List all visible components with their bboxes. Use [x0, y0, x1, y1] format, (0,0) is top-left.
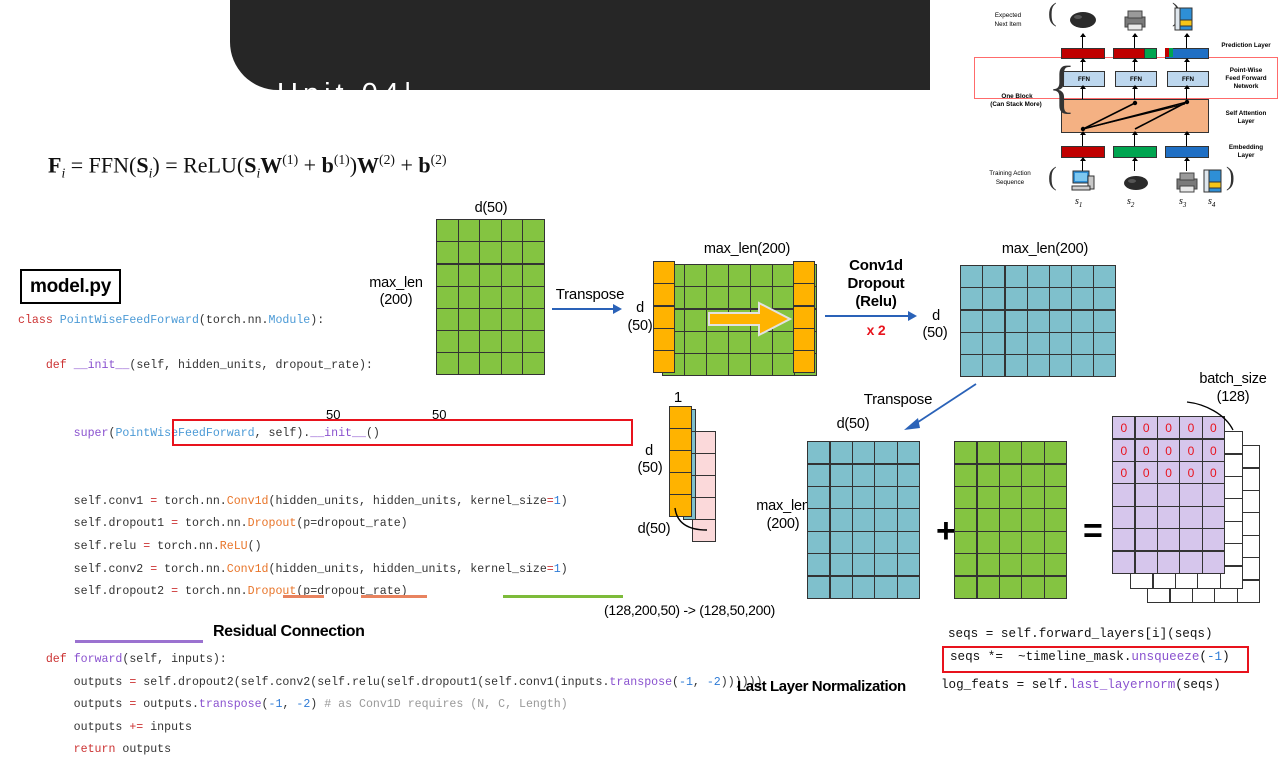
arrow-attn-2: [1134, 88, 1135, 99]
pointwise-label-2: Feed Forward: [1217, 75, 1275, 83]
shape-transform-note: (128,200,50) -> (128,50,200): [604, 602, 775, 618]
modelpy-badge: model.py: [20, 269, 121, 304]
arrowhead-ffn-1: [1080, 58, 1086, 62]
transpose-underline: [503, 595, 623, 598]
self-attention-label-1: Self Attention: [1217, 110, 1275, 118]
arrowhead-pred-1: [1080, 33, 1086, 37]
arrowhead-pred-3: [1184, 33, 1190, 37]
matrix-green-1: [437, 220, 545, 375]
arrowhead-attn-3: [1184, 85, 1190, 89]
computer-icon: [1070, 168, 1096, 194]
matrix1-left-label-1: max_len: [358, 275, 434, 291]
input-bracket-right: ): [1226, 162, 1235, 192]
input-bracket-left: (: [1048, 162, 1057, 192]
matrix3-top-label: max_len(200): [990, 241, 1100, 257]
printer-icon-bottom: [1173, 170, 1201, 194]
annotation-fifty-right: 50: [432, 407, 446, 422]
batch-size-brace: [1185, 400, 1241, 432]
sliding-kernel-arrow: [707, 301, 792, 337]
embedding-layer-label-2: Layer: [1217, 152, 1275, 160]
matrix1-left-label-2: (200): [358, 292, 434, 308]
pointwise-label-3: Network: [1217, 83, 1275, 91]
matrix1-top-label: d(50): [436, 200, 546, 216]
one-block-label-2: (Can Stack More): [980, 101, 1052, 109]
kernel-left-label-2: (50): [630, 460, 670, 476]
arrowhead-pred-2: [1132, 33, 1138, 37]
residual-connection-label: Residual Connection: [213, 623, 365, 641]
bottom-code-line-2: seqs *= ~timeline_mask.unsqueeze(-1): [950, 650, 1230, 664]
sequence-label-s3: s3: [1179, 196, 1186, 209]
last-layer-norm-label: Last Layer Normalization: [737, 678, 906, 695]
conv1-highlight-box: [172, 419, 633, 446]
matrix2-kernel-col-left: [654, 262, 675, 373]
arrowhead-ffn-3: [1184, 58, 1190, 62]
self-attention-label-2: Layer: [1217, 118, 1275, 126]
arrowhead-attn-1: [1080, 85, 1086, 89]
arrowhead-in-2: [1132, 157, 1138, 161]
plus-operator: +: [936, 512, 956, 551]
batch-size-label-1: batch_size: [1188, 371, 1278, 387]
transpose-arrow-1-head: [613, 304, 622, 314]
matrix-green-3: [955, 442, 1067, 599]
arrow-emb-2: [1134, 135, 1135, 146]
one-block-brace: {: [1048, 58, 1076, 116]
books-icon-bottom: [1201, 168, 1225, 195]
conv1d-times2-label: x 2: [843, 322, 909, 338]
equals-operator: =: [1083, 512, 1103, 551]
books-icon-top: [1172, 6, 1196, 33]
sasrec-architecture-figure: Expected Next Item ( ) Prediction Layer …: [972, 2, 1278, 217]
printer-icon-top: [1121, 7, 1149, 32]
page-title: Unit 04|Pointwise Feed Forward Network: [277, 78, 676, 115]
header-subtitle: Pointwise Feed Forward Network: [411, 94, 676, 114]
header-bar: [230, 0, 930, 90]
matrix4-top-label: d(50): [808, 416, 898, 432]
sequence-label-s4: s4: [1208, 196, 1215, 209]
conv1d-label-line3: (Relu): [843, 293, 909, 310]
kernel-left-label-1: d: [636, 443, 662, 459]
arrowhead-in-1: [1080, 157, 1086, 161]
arrowhead-emb-3: [1184, 131, 1190, 135]
bottom-code-line-3: log_feats = self.last_layernorm(seqs): [941, 678, 1221, 692]
conv1d-arrow-head: [908, 311, 917, 321]
one-block-label-1: One Block: [988, 93, 1046, 101]
mouse-icon-top: [1068, 8, 1098, 32]
conv1d-label-line1: Conv1d: [843, 257, 909, 274]
arrowhead-in-3: [1184, 157, 1190, 161]
transpose-label-1: Transpose: [550, 286, 630, 303]
embedding-layer-label-1: Embedding: [1217, 144, 1275, 152]
sequence-label-s2: s2: [1127, 196, 1134, 209]
prediction-bar-3-green: [1169, 48, 1173, 57]
arrow-in-2: [1134, 160, 1135, 171]
header-unit: Unit 04: [277, 78, 404, 110]
kernel-weight-col: [670, 407, 692, 517]
training-seq-label-1: Training Action: [974, 170, 1046, 178]
arrow-emb-3: [1186, 135, 1187, 146]
prediction-bar-2-green: [1144, 48, 1157, 59]
expected-bracket-left: (: [1048, 0, 1057, 28]
mouse-icon-bottom: [1122, 173, 1150, 193]
conv1d-label-line2: Dropout: [843, 275, 909, 292]
matrix-cyan-1: [961, 266, 1116, 377]
pointwise-label-1: Point-Wise: [1217, 67, 1275, 75]
dropout1-underline: [361, 595, 427, 598]
matrix-cyan-2: [808, 442, 920, 599]
matrix2-kernel-col-right: [794, 262, 815, 373]
kernel-brace: [673, 504, 711, 534]
training-seq-label-2: Sequence: [974, 179, 1046, 187]
matrix3-left-label-1: d: [920, 308, 952, 324]
arrow-attn-3: [1186, 88, 1187, 99]
arrowhead-ffn-2: [1132, 58, 1138, 62]
conv1d-arrow-line: [825, 315, 910, 317]
relu-underline: [283, 595, 324, 598]
bottom-code-line-1: seqs = self.forward_layers[i](seqs): [948, 627, 1213, 641]
expected-next-item-label-1: Expected: [978, 12, 1038, 20]
matrix-purple-masked: 00000 00000 00000: [1113, 417, 1225, 574]
residual-underline: [75, 640, 203, 643]
kernel-top-label: 1: [662, 389, 694, 406]
expected-next-item-label-2: Next Item: [978, 21, 1038, 29]
matrix3-left-label-2: (50): [914, 325, 956, 341]
transpose-arrow-1-line: [552, 308, 615, 310]
prediction-layer-label: Prediction Layer: [1215, 42, 1277, 50]
arrowhead-emb-1: [1080, 131, 1086, 135]
arrowhead-emb-2: [1132, 131, 1138, 135]
ffn-formula: Fi = FFN(Si) = ReLU(SiW(1) + b(1))W(2) +…: [48, 152, 447, 182]
transpose-label-2: Transpose: [856, 391, 940, 408]
arrowhead-attn-2: [1132, 85, 1138, 89]
arrow-emb-1: [1082, 135, 1083, 146]
attention-connections: [1061, 99, 1207, 131]
sequence-label-s1: s1: [1075, 196, 1082, 209]
matrix2-left-label-1: d: [624, 300, 656, 316]
annotation-fifty-left: 50: [326, 407, 340, 422]
matrix2-top-label: max_len(200): [692, 241, 802, 257]
arrow-attn-1: [1082, 88, 1083, 99]
